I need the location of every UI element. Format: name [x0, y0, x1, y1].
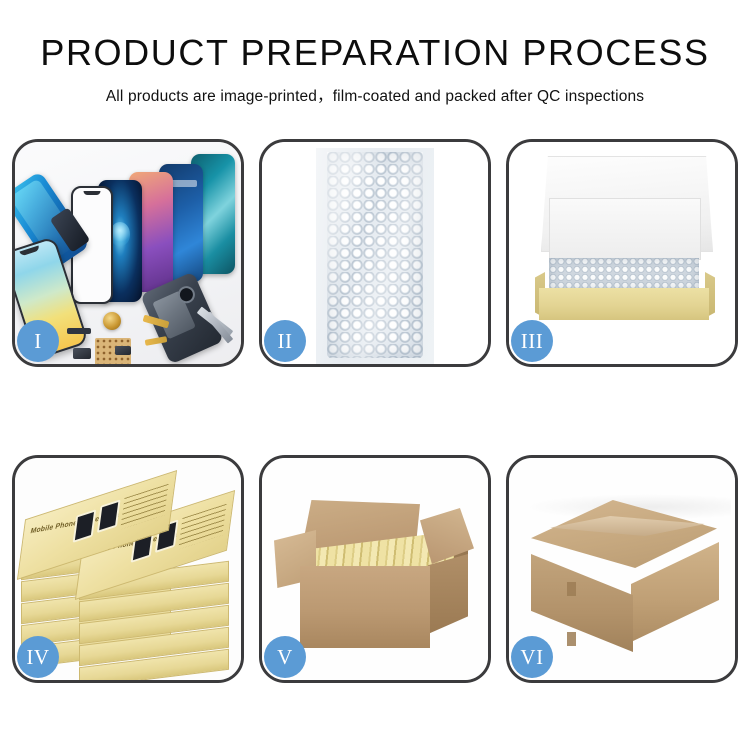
process-step-3[interactable]: III [506, 139, 738, 367]
process-step-6[interactable]: VI [506, 455, 738, 683]
process-step-1[interactable]: I [12, 139, 244, 367]
component-chip-1 [73, 348, 91, 359]
box-window-1 [73, 509, 97, 543]
page-header: PRODUCT PREPARATION PROCESS All products… [0, 0, 750, 106]
step-badge-5: V [264, 636, 306, 678]
box-window-2 [97, 499, 121, 533]
box-spec-lines [178, 504, 226, 550]
step-badge-2: II [264, 320, 306, 362]
carton-front-panel [300, 566, 430, 648]
speaker-part [103, 312, 121, 330]
box-lid-inner [549, 198, 701, 260]
process-step-5[interactable]: V [259, 455, 491, 683]
carton-seam-lower [567, 632, 576, 646]
step-badge-3: III [511, 320, 553, 362]
carton-seam-upper [567, 582, 576, 596]
process-step-2[interactable]: II [259, 139, 491, 367]
step-badge-4: IV [17, 636, 59, 678]
component-chip-6 [115, 346, 131, 355]
page-subtitle: All products are image-printed，film-coat… [0, 84, 750, 106]
step-badge-6: VI [511, 636, 553, 678]
process-steps-grid: I II III [12, 139, 738, 683]
box-spec-lines [120, 484, 168, 530]
step-badge-1: I [17, 320, 59, 362]
flex-cable-3 [67, 328, 91, 334]
page-title: PRODUCT PREPARATION PROCESS [0, 34, 750, 72]
bubble-wrap-gloss [327, 152, 423, 358]
bubble-wrapped-contents [549, 258, 699, 290]
process-step-4[interactable]: Mobile Phone Spare Parts Mobile Phone Sp… [12, 455, 244, 683]
box-front-wall [539, 288, 709, 320]
